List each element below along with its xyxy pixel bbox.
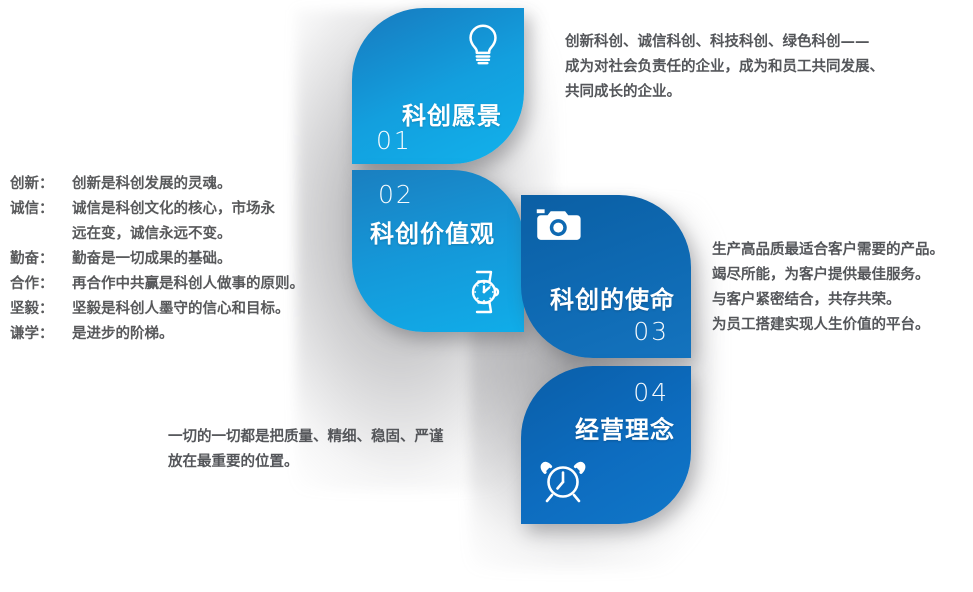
values-item: 勤奋： 勤奋是一切成果的基础。 xyxy=(10,247,340,272)
lightbulb-icon xyxy=(460,21,506,67)
values-continuation: 远在变，诚信永远不变。 xyxy=(10,222,340,247)
values-desc: 创新是科创发展的灵魂。 xyxy=(72,172,340,197)
alarm-clock-icon xyxy=(537,454,589,506)
card-philosophy-label: 经营理念 xyxy=(575,410,675,445)
values-term: 创新： xyxy=(10,172,72,197)
card-mission[interactable]: 科创的使命 03 xyxy=(521,195,691,358)
card-values[interactable]: 02 科创价值观 xyxy=(352,170,524,332)
values-desc: 再合作中共赢是科创人做事的原则。 xyxy=(72,272,340,297)
card-mission-label: 科创的使命 xyxy=(550,280,675,315)
mission-description: 生产高品质最适合客户需要的产品。 竭尽所能，为客户提供最佳服务。 与客户紧密结合… xyxy=(712,238,972,338)
values-item: 坚毅： 坚毅是科创人墨守的信心和目标。 xyxy=(10,297,340,322)
values-item: 合作： 再合作中共赢是科创人做事的原则。 xyxy=(10,272,340,297)
camera-icon xyxy=(534,205,582,245)
card-philosophy-number: 04 xyxy=(633,378,669,407)
philosophy-description: 一切的一切都是把质量、精细、稳固、严谨 放在最重要的位置。 xyxy=(168,425,498,475)
values-term: 坚毅： xyxy=(10,297,72,322)
values-desc: 是进步的阶梯。 xyxy=(72,322,340,347)
card-vision-label: 科创愿景 xyxy=(402,96,502,131)
values-term: 谦学： xyxy=(10,322,72,347)
card-vision[interactable]: 科创愿景 01 xyxy=(352,8,524,164)
card-philosophy[interactable]: 04 经营理念 xyxy=(521,366,691,524)
values-term: 合作： xyxy=(10,272,72,297)
vision-description: 创新科创、诚信科创、科技科创、绿色科创—— 成为对社会负责任的企业，成为和员工共… xyxy=(565,30,965,105)
values-term: 诚信： xyxy=(10,197,72,222)
card-values-number: 02 xyxy=(378,180,414,209)
values-item: 创新： 创新是科创发展的灵魂。 xyxy=(10,172,340,197)
values-item: 谦学： 是进步的阶梯。 xyxy=(10,322,340,347)
card-mission-number: 03 xyxy=(633,317,669,346)
card-vision-number: 01 xyxy=(376,126,412,155)
infographic-canvas: 科创愿景 01 02 科创价值观 xyxy=(0,0,973,592)
card-values-label: 科创价值观 xyxy=(370,214,495,249)
values-description: 创新： 创新是科创发展的灵魂。 诚信： 诚信是科创文化的核心，市场永 远在变，诚… xyxy=(10,172,340,347)
values-desc: 勤奋是一切成果的基础。 xyxy=(72,247,340,272)
values-term: 勤奋： xyxy=(10,247,72,272)
values-desc: 坚毅是科创人墨守的信心和目标。 xyxy=(72,297,340,322)
values-desc: 诚信是科创文化的核心，市场永 xyxy=(72,197,340,222)
wristwatch-icon xyxy=(460,268,508,316)
values-item: 诚信： 诚信是科创文化的核心，市场永 xyxy=(10,197,340,222)
